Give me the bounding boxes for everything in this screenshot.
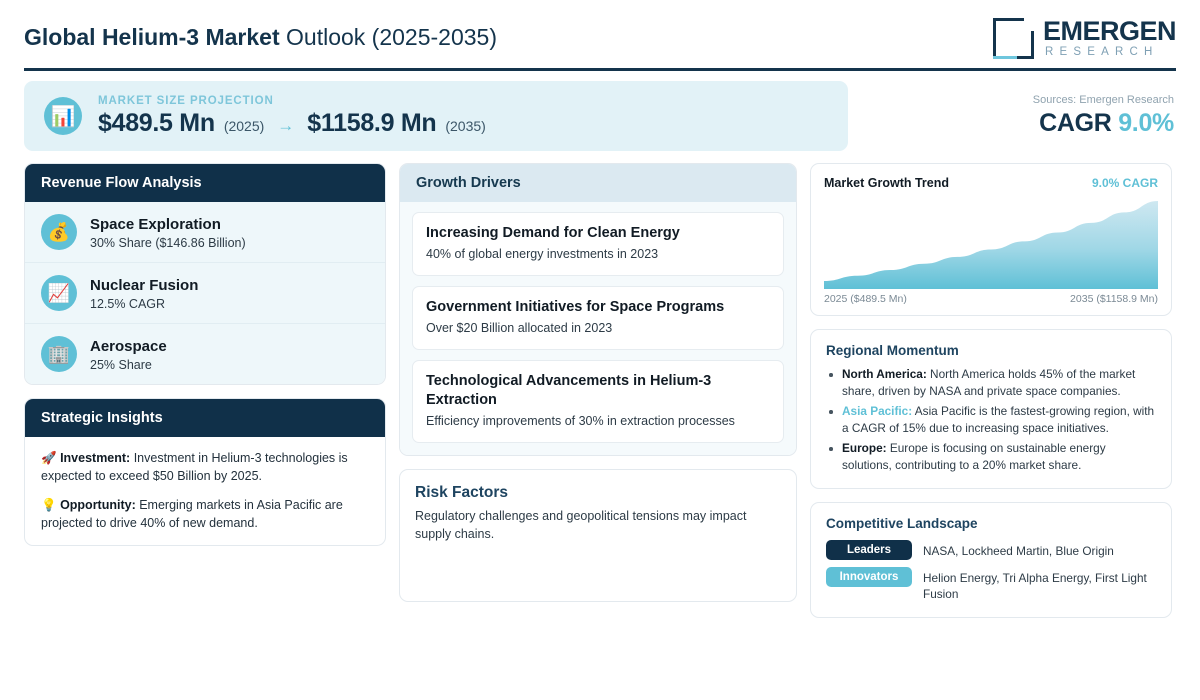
chart-increasing-icon: 📈 [41,275,77,311]
cagr-label: CAGR [1039,109,1118,137]
growth-driver-title: Technological Advancements in Helium-3 E… [426,372,770,410]
region-label: North America: [842,367,927,381]
strategic-insights-heading: Strategic Insights [25,399,385,437]
competitive-landscape-title: Competitive Landscape [826,516,1156,531]
revenue-row-aerospace[interactable]: 🏢 Aerospace 25% Share [25,324,385,384]
leaders-badge: Leaders [826,540,912,560]
regional-momentum-card: Regional Momentum North America: North A… [810,329,1172,489]
market-size-label: MARKET SIZE PROJECTION [98,95,486,107]
growth-drivers-body: Increasing Demand for Clean Energy 40% o… [400,202,796,455]
revenue-row-text: Aerospace 25% Share [90,337,167,372]
insight-label: Opportunity: [60,498,136,512]
revenue-row-title: Aerospace [90,337,167,356]
revenue-flow-heading: Revenue Flow Analysis [25,164,385,202]
insight-opportunity: 💡 Opportunity: Emerging markets in Asia … [41,496,369,532]
revenue-row-sub: 30% Share ($146.86 Billion) [90,236,246,250]
growth-drivers-heading: Growth Drivers [400,164,796,202]
growth-driver-item[interactable]: Technological Advancements in Helium-3 E… [412,360,784,443]
cagr-block: Sources: Emergen Research CAGR 9.0% [862,81,1176,151]
logo-text: EMERGEN RESEARCH [1043,18,1176,59]
sources-text: Sources: Emergen Research [1033,94,1174,106]
year-2025: (2025) [224,118,264,134]
risk-factors-body: Risk Factors Regulatory challenges and g… [400,470,796,601]
page-title-bold: Global Helium-3 Market [24,24,280,50]
growth-driver-item[interactable]: Increasing Demand for Clean Energy 40% o… [412,212,784,276]
strategic-insights-body: 🚀 Investment: Investment in Helium-3 tec… [25,437,385,545]
chart-axis-labels: 2025 ($489.5 Mn) 2035 ($1158.9 Mn) [824,293,1158,305]
right-column: Market Growth Trend 9.0% CAGR 2025 ($489 [810,163,1172,618]
market-growth-trend-card: Market Growth Trend 9.0% CAGR 2025 ($489 [810,163,1172,316]
arrow-icon: → [273,116,298,136]
rocket-icon: 🚀 [41,451,57,465]
emergen-research-logo: EMERGEN RESEARCH [993,14,1176,59]
cagr-value: 9.0% [1118,109,1174,137]
revenue-flow-card: Revenue Flow Analysis 💰 Space Exploratio… [24,163,386,385]
innovators-names: Helion Energy, Tri Alpha Energy, First L… [923,567,1156,602]
cagr-headline: CAGR 9.0% [1039,109,1174,138]
region-label: Asia Pacific: [842,404,912,418]
risk-factors-spacer [415,543,781,585]
region-item-north-america: North America: North America holds 45% o… [826,366,1156,400]
regional-momentum-body: Regional Momentum North America: North A… [811,330,1171,488]
middle-column: Growth Drivers Increasing Demand for Cle… [399,163,797,602]
chart-cagr-badge: 9.0% CAGR [1092,176,1158,190]
page-title: Global Helium-3 Market Outlook (2025-203… [24,14,497,52]
left-column: Revenue Flow Analysis 💰 Space Exploratio… [24,163,386,546]
revenue-row-sub: 25% Share [90,358,167,372]
market-growth-trend-body: Market Growth Trend 9.0% CAGR 2025 ($489 [811,164,1171,315]
risk-factors-title: Risk Factors [415,484,781,502]
revenue-row-text: Space Exploration 30% Share ($146.86 Bil… [90,215,246,250]
money-bag-icon: 💰 [41,214,77,250]
light-bulb-icon: 💡 [41,498,57,512]
chart-axis-right: 2035 ($1158.9 Mn) [1070,293,1158,305]
risk-factors-card: Risk Factors Regulatory challenges and g… [399,469,797,602]
competitive-row-leaders: Leaders NASA, Lockheed Martin, Blue Orig… [826,540,1156,560]
revenue-row-title: Space Exploration [90,215,246,234]
revenue-row-text: Nuclear Fusion 12.5% CAGR [90,276,198,311]
growth-area-chart [824,197,1158,289]
chart-header: Market Growth Trend 9.0% CAGR [824,176,1158,190]
region-item-europe: Europe: Europe is focusing on sustainabl… [826,440,1156,474]
office-building-icon: 🏢 [41,336,77,372]
summary-banner-row: 📊 MARKET SIZE PROJECTION $489.5 Mn (2025… [0,71,1200,151]
regional-momentum-title: Regional Momentum [826,343,1156,358]
page-title-rest: Outlook (2025-2035) [280,24,497,50]
innovators-badge: Innovators [826,567,912,587]
leaders-names: NASA, Lockheed Martin, Blue Origin [923,540,1114,559]
logo-wordmark: EMERGEN [1043,18,1176,45]
strategic-insights-card: Strategic Insights 🚀 Investment: Investm… [24,398,386,546]
competitive-landscape-body: Competitive Landscape Leaders NASA, Lock… [811,503,1171,617]
chart-title: Market Growth Trend [824,176,949,190]
region-label: Europe: [842,441,887,455]
insight-investment: 🚀 Investment: Investment in Helium-3 tec… [41,449,369,485]
risk-factors-text: Regulatory challenges and geopolitical t… [415,507,781,543]
regional-momentum-list: North America: North America holds 45% o… [826,366,1156,474]
region-item-asia-pacific: Asia Pacific: Asia Pacific is the fastes… [826,403,1156,437]
insight-label: Investment: [60,451,130,465]
market-size-banner: 📊 MARKET SIZE PROJECTION $489.5 Mn (2025… [24,81,848,151]
growth-drivers-card: Growth Drivers Increasing Demand for Cle… [399,163,797,456]
logo-tagline: RESEARCH [1043,47,1176,59]
main-content: Revenue Flow Analysis 💰 Space Exploratio… [0,151,1200,618]
chart-axis-left: 2025 ($489.5 Mn) [824,293,907,305]
growth-driver-title: Increasing Demand for Clean Energy [426,224,770,243]
bar-chart-icon: 📊 [44,97,82,135]
growth-driver-sub: 40% of global energy investments in 2023 [426,246,770,263]
growth-driver-item[interactable]: Government Initiatives for Space Program… [412,286,784,350]
revenue-row-space-exploration[interactable]: 💰 Space Exploration 30% Share ($146.86 B… [25,202,385,263]
competitive-landscape-card: Competitive Landscape Leaders NASA, Lock… [810,502,1172,618]
revenue-row-nuclear-fusion[interactable]: 📈 Nuclear Fusion 12.5% CAGR [25,263,385,324]
growth-driver-sub: Over $20 Billion allocated in 2023 [426,320,770,337]
market-size-block: MARKET SIZE PROJECTION $489.5 Mn (2025) … [98,95,486,138]
growth-driver-title: Government Initiatives for Space Program… [426,298,770,317]
page-header: Global Helium-3 Market Outlook (2025-203… [0,0,1200,68]
market-size-figures: $489.5 Mn (2025) → $1158.9 Mn (2035) [98,109,486,138]
value-2035: $1158.9 Mn [307,109,436,138]
competitive-row-innovators: Innovators Helion Energy, Tri Alpha Ener… [826,567,1156,602]
value-2025: $489.5 Mn [98,109,215,138]
revenue-row-title: Nuclear Fusion [90,276,198,295]
logo-square-icon [993,18,1034,59]
revenue-row-sub: 12.5% CAGR [90,297,198,311]
growth-driver-sub: Efficiency improvements of 30% in extrac… [426,413,770,430]
year-2035: (2035) [445,118,485,134]
